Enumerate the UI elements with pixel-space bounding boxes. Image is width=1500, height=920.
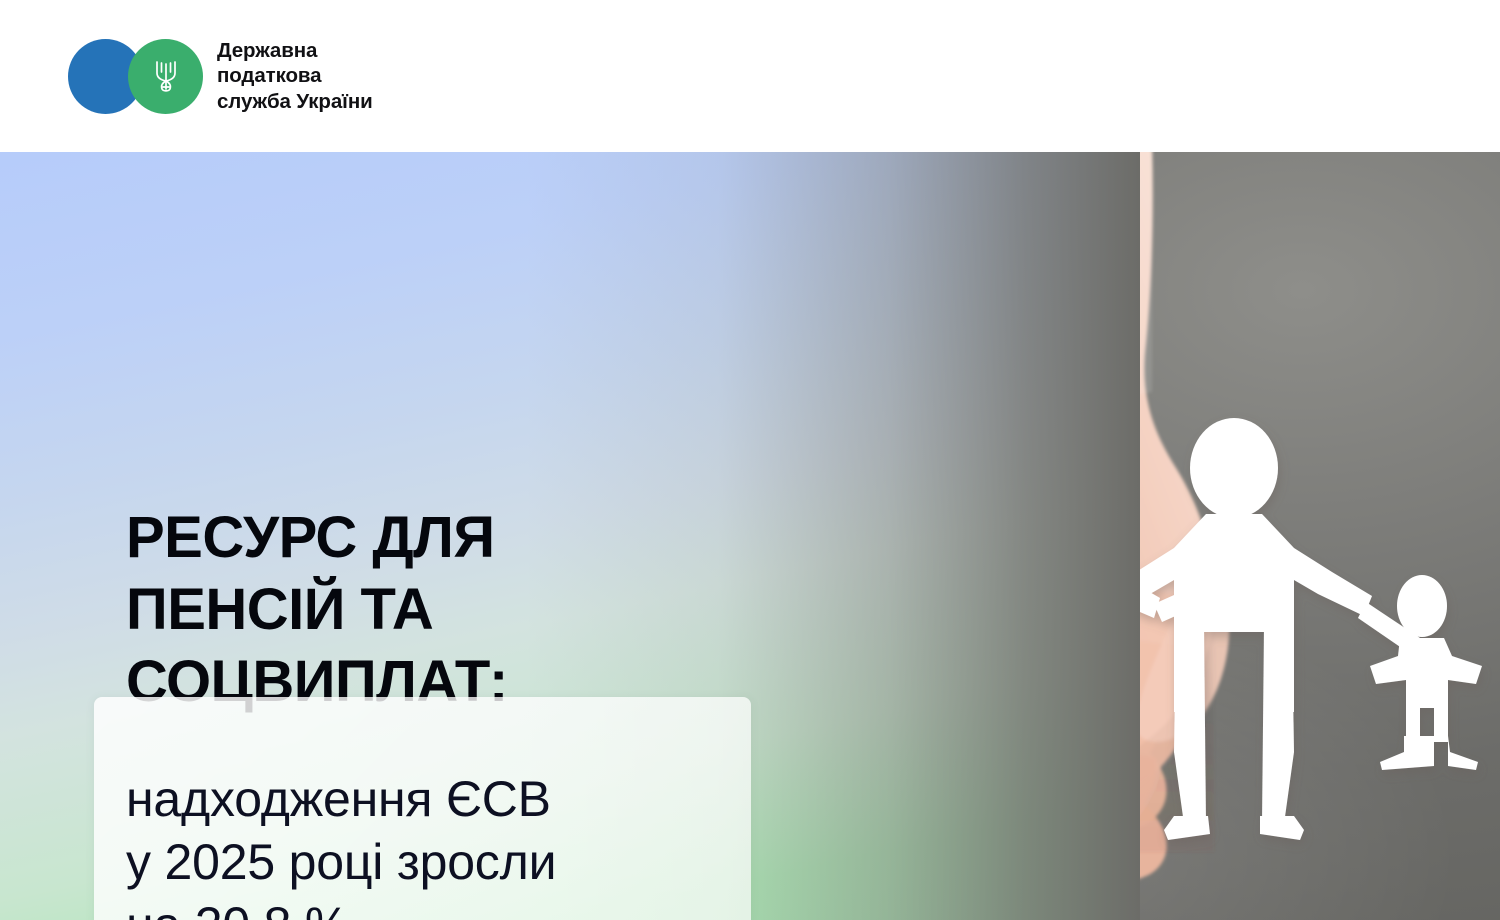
tax-service-logo[interactable]: Державна податкова служба України xyxy=(68,38,373,115)
org-name: Державна податкова служба України xyxy=(217,38,373,115)
promo-banner: Державна податкова служба України xyxy=(0,0,1500,920)
page-title: РЕСУРС ДЛЯ ПЕНСІЙ ТА СОЦВИПЛАТ: xyxy=(126,502,746,718)
ukraine-trident-icon xyxy=(151,58,181,94)
banner-stage: РЕСУРС ДЛЯ ПЕНСІЙ ТА СОЦВИПЛАТ: надходже… xyxy=(0,152,1500,920)
paper-figure-child-right xyxy=(1370,575,1482,770)
logo-marks xyxy=(68,39,203,114)
green-circle-icon xyxy=(128,39,203,114)
subtitle-text: надходження ЄСВ у 2025 році зросли на 20… xyxy=(126,768,746,920)
site-header: Державна податкова служба України xyxy=(0,0,1500,152)
